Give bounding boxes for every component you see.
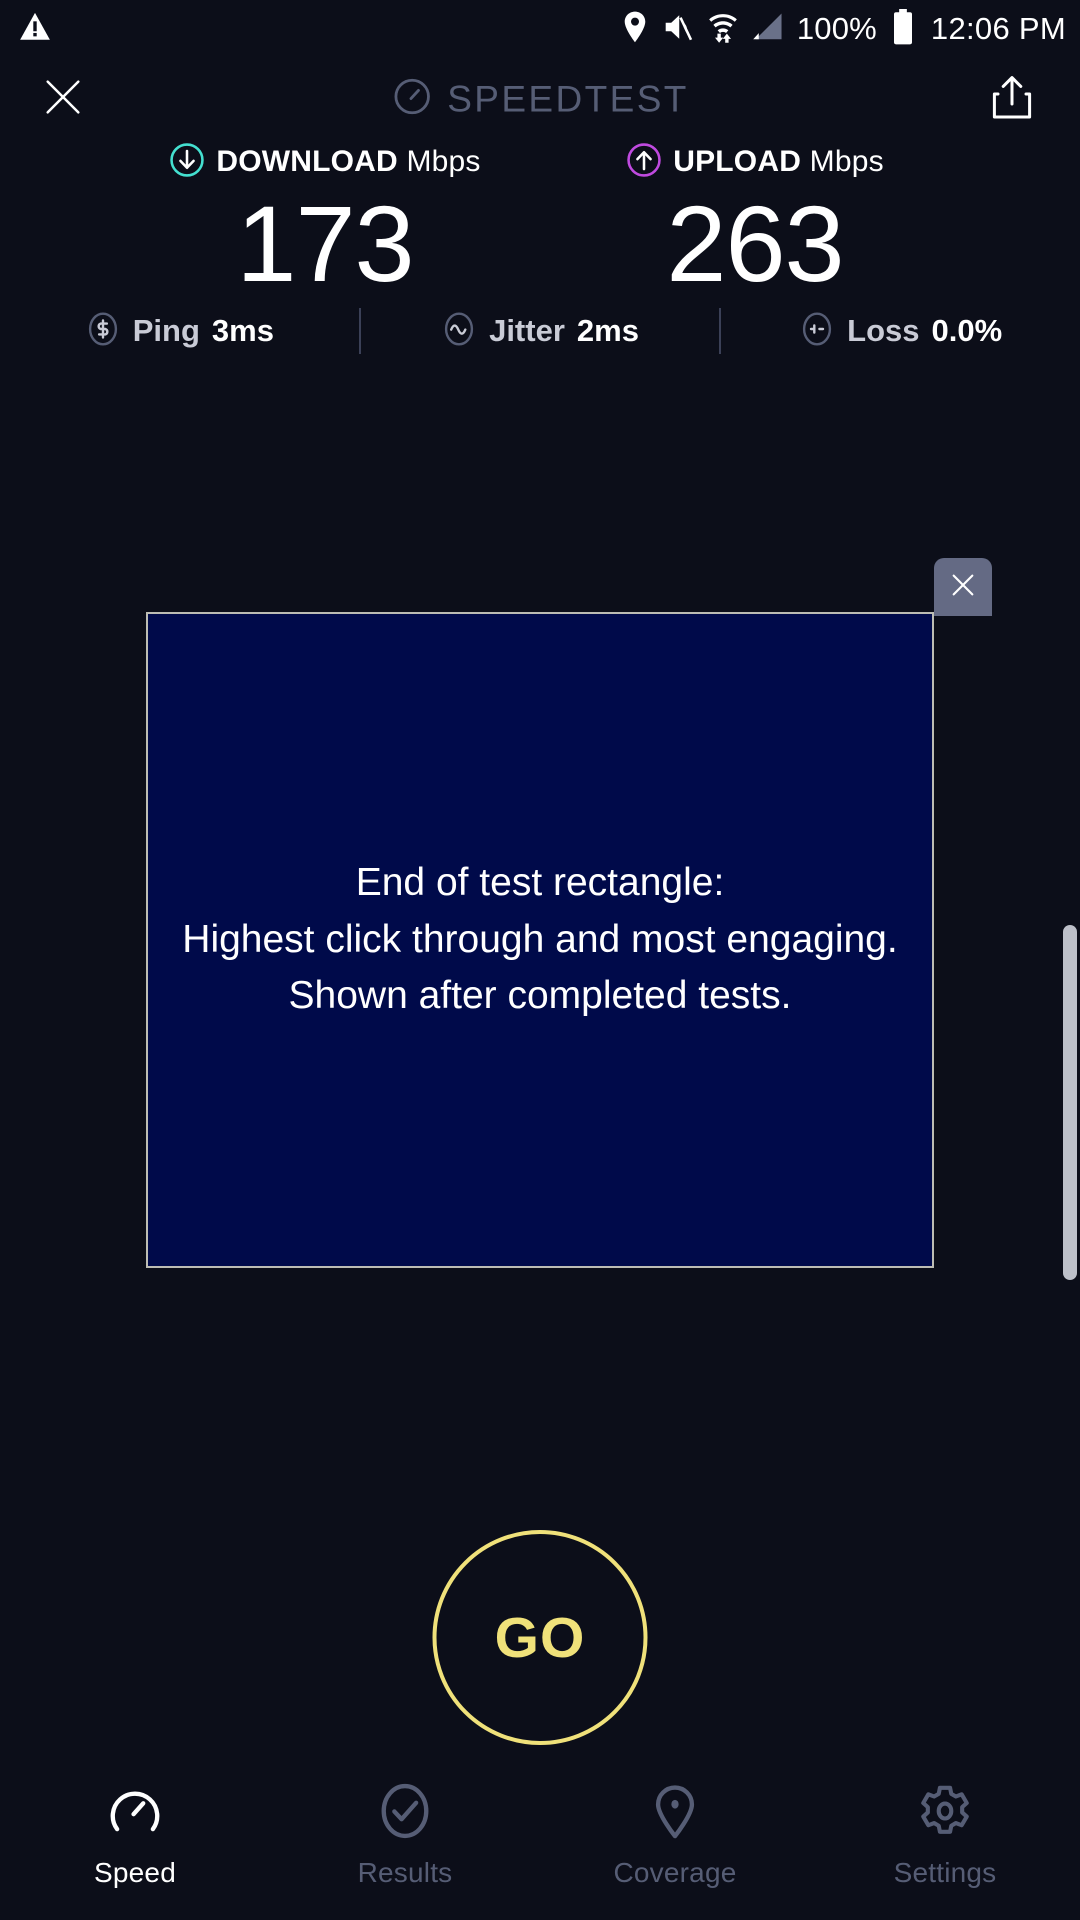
ping-icon: [85, 311, 121, 352]
brand-logo: SPEEDTEST: [391, 76, 689, 123]
app-header: SPEEDTEST: [0, 58, 1080, 140]
nav-label-speed: Speed: [94, 1857, 176, 1889]
nav-item-results[interactable]: Results: [270, 1782, 540, 1889]
close-icon: [947, 569, 979, 606]
bottom-navigation: Speed Results Coverage Settings: [0, 1770, 1080, 1920]
upload-value: 263: [666, 190, 843, 298]
close-icon: [40, 74, 86, 125]
ad-line-3: Shown after completed tests.: [182, 968, 897, 1025]
status-bar-right: 100% 12:06 PM: [621, 9, 1066, 50]
nav-label-settings: Settings: [894, 1857, 997, 1889]
loss-label: Loss: [847, 313, 919, 349]
share-button[interactable]: [984, 71, 1040, 127]
wifi-icon: [707, 10, 739, 49]
battery-percent-label: 100%: [797, 11, 877, 47]
volume-muted-icon: [662, 12, 694, 47]
ad-line-1: End of test rectangle:: [182, 855, 897, 912]
upload-metric: UPLOAD Mbps 263: [570, 140, 940, 298]
upload-header: UPLOAD Mbps: [626, 140, 884, 184]
gear-icon: [916, 1782, 974, 1845]
vertical-scrollbar-thumb[interactable]: [1063, 925, 1077, 1280]
upload-label: UPLOAD Mbps: [673, 145, 884, 179]
nav-item-settings[interactable]: Settings: [810, 1782, 1080, 1889]
check-circle-icon: [376, 1782, 434, 1845]
go-button[interactable]: GO: [433, 1530, 648, 1745]
battery-full-icon: [892, 9, 914, 50]
speedometer-icon: [391, 76, 433, 123]
location-pin-icon: [646, 1782, 704, 1845]
loss-value: 0.0%: [932, 313, 1003, 349]
download-value: 173: [236, 190, 413, 298]
jitter-stat: Jitter 2ms: [361, 311, 720, 352]
location-pin-icon: [621, 11, 649, 48]
nav-label-results: Results: [358, 1857, 453, 1889]
cellular-signal-icon: [752, 12, 784, 47]
advertisement-banner[interactable]: End of test rectangle: Highest click thr…: [146, 612, 934, 1268]
brand-title: SPEEDTEST: [447, 78, 689, 120]
download-upload-row: DOWNLOAD Mbps 173 UPLOAD Mbps 263: [0, 140, 1080, 298]
jitter-value: 2ms: [577, 313, 639, 349]
download-arrow-icon: [169, 142, 205, 183]
ping-value: 3ms: [212, 313, 274, 349]
jitter-icon: [441, 311, 477, 352]
advertisement-text: End of test rectangle: Highest click thr…: [170, 855, 909, 1025]
download-metric: DOWNLOAD Mbps 173: [140, 140, 510, 298]
ping-label: Ping: [133, 313, 200, 349]
connection-stats-row: Ping 3ms Jitter 2ms Loss 0.0%: [0, 300, 1080, 362]
ping-stat: Ping 3ms: [0, 311, 359, 352]
speedometer-icon: [106, 1782, 164, 1845]
close-button[interactable]: [35, 71, 91, 127]
status-bar-clock: 12:06 PM: [931, 11, 1066, 47]
status-bar-left: [18, 10, 52, 49]
jitter-label: Jitter: [489, 313, 565, 349]
warning-triangle-icon: [18, 10, 52, 49]
loss-stat: Loss 0.0%: [721, 311, 1080, 352]
share-icon: [990, 73, 1034, 126]
loss-icon: [799, 311, 835, 352]
nav-item-speed[interactable]: Speed: [0, 1782, 270, 1889]
download-header: DOWNLOAD Mbps: [169, 140, 480, 184]
go-button-label: GO: [495, 1605, 586, 1671]
results-summary: DOWNLOAD Mbps 173 UPLOAD Mbps 263: [0, 140, 1080, 298]
upload-arrow-icon: [626, 142, 662, 183]
advertisement-container: End of test rectangle: Highest click thr…: [146, 612, 934, 1268]
download-label: DOWNLOAD Mbps: [216, 145, 480, 179]
nav-item-coverage[interactable]: Coverage: [540, 1782, 810, 1889]
ad-close-button[interactable]: [934, 558, 992, 616]
status-bar: 100% 12:06 PM: [0, 0, 1080, 58]
nav-label-coverage: Coverage: [613, 1857, 736, 1889]
ad-line-2: Highest click through and most engaging.: [182, 912, 897, 969]
